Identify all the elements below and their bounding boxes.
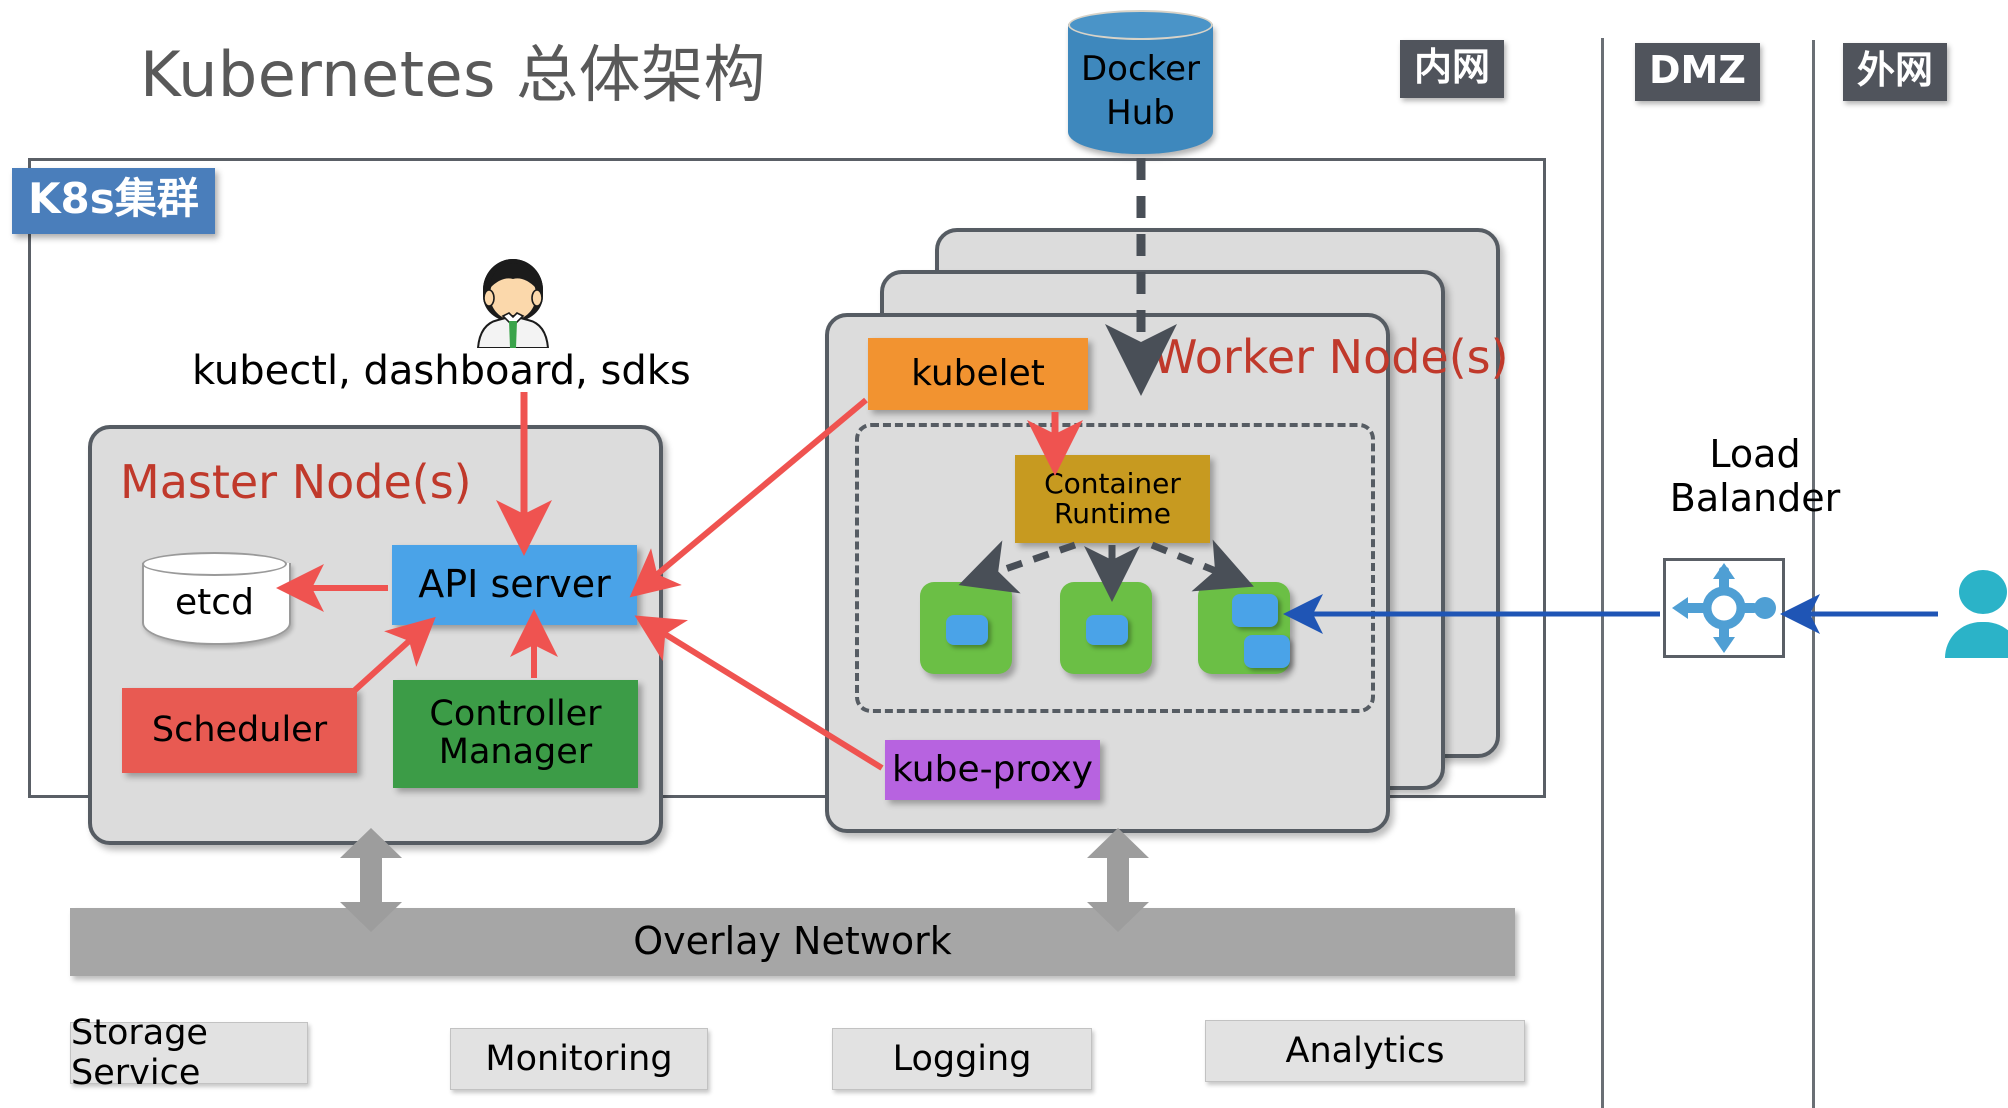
service-box-logging[interactable]: Logging bbox=[832, 1028, 1092, 1090]
controller-manager-label-line1: Controller bbox=[429, 696, 601, 734]
container-icon bbox=[946, 615, 988, 645]
pod-box[interactable] bbox=[920, 582, 1012, 674]
overlay-network-bar: Overlay Network bbox=[70, 908, 1515, 976]
docker-hub-label: Docker Hub bbox=[1068, 36, 1213, 146]
person-head bbox=[1959, 570, 2007, 614]
service-box-analytics[interactable]: Analytics bbox=[1205, 1020, 1525, 1082]
load-balancer-label-line1: Load bbox=[1655, 432, 1855, 476]
container-icon bbox=[1244, 635, 1290, 668]
load-balancer-label-line2: Balander bbox=[1655, 476, 1855, 520]
zone-badge-extranet: 外网 bbox=[1843, 43, 1947, 101]
container-runtime-box[interactable]: Container Runtime bbox=[1015, 455, 1210, 543]
person-body bbox=[1945, 622, 2008, 658]
kube-proxy-box[interactable]: kube-proxy bbox=[885, 740, 1100, 800]
k8s-cluster-badge: K8s集群 bbox=[12, 168, 215, 234]
kubelet-box[interactable]: kubelet bbox=[868, 338, 1088, 410]
zone-divider-dmz-extranet bbox=[1812, 40, 1815, 1108]
zone-badge-intranet: 内网 bbox=[1400, 40, 1504, 98]
docker-hub-label-line1: Docker bbox=[1081, 47, 1200, 91]
master-node-label: Master Node(s) bbox=[120, 455, 472, 509]
scheduler-box[interactable]: Scheduler bbox=[122, 688, 357, 773]
load-balancer-icon[interactable] bbox=[1663, 558, 1785, 658]
diagram-canvas: Kubernetes 总体架构 内网 DMZ 外网 Docker Hub K8s… bbox=[0, 0, 2008, 1108]
etcd-label: etcd bbox=[142, 576, 287, 628]
zone-divider-intranet-dmz bbox=[1601, 38, 1604, 1108]
zone-badge-dmz: DMZ bbox=[1635, 43, 1760, 101]
controller-manager-label-line2: Manager bbox=[439, 734, 592, 772]
etcd-cylinder[interactable]: etcd bbox=[142, 552, 287, 644]
docker-hub-cylinder: Docker Hub bbox=[1068, 10, 1213, 158]
admin-tools-label: kubectl, dashboard, sdks bbox=[192, 348, 691, 394]
pod-box[interactable] bbox=[1198, 582, 1290, 674]
person-icon bbox=[1945, 570, 2008, 652]
page-title: Kubernetes 总体架构 bbox=[140, 24, 766, 114]
api-server-box[interactable]: API server bbox=[392, 545, 637, 625]
service-box-storage-service[interactable]: Storage Service bbox=[70, 1022, 308, 1084]
etcd-top bbox=[142, 552, 287, 576]
container-runtime-label-line1: Container bbox=[1044, 469, 1181, 499]
container-icon bbox=[1232, 594, 1278, 627]
container-icon bbox=[1086, 615, 1128, 645]
docker-hub-label-line2: Hub bbox=[1106, 91, 1175, 135]
pod-box[interactable] bbox=[1060, 582, 1152, 674]
load-balancer-label: Load Balander bbox=[1655, 432, 1855, 520]
service-box-monitoring[interactable]: Monitoring bbox=[450, 1028, 708, 1090]
worker-node-label: Worker Node(s) bbox=[1152, 330, 1509, 384]
container-runtime-label-line2: Runtime bbox=[1054, 499, 1171, 529]
user-avatar-icon bbox=[470, 258, 556, 348]
controller-manager-box[interactable]: Controller Manager bbox=[393, 680, 638, 788]
